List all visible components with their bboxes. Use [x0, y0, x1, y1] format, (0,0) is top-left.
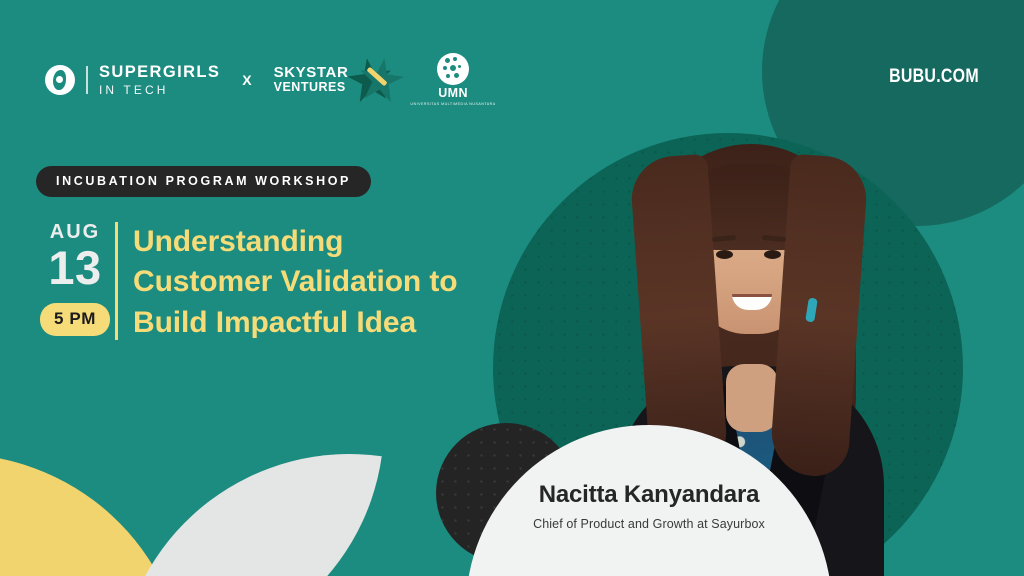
event-month: AUG — [40, 222, 110, 242]
dotted-circle-icon — [437, 53, 469, 85]
event-time-pill: 5 PM — [40, 303, 110, 336]
decorative-petal-yellow — [0, 424, 184, 576]
date-block: AUG 13 5 PM — [40, 222, 110, 336]
bubu-logo: BUBU.COM — [889, 66, 979, 88]
eye-left — [716, 250, 733, 259]
supergirls-line1: SUPERGIRLS — [99, 64, 220, 81]
event-poster: SUPERGIRLS IN TECH X SKYSTAR VENTURES UM… — [0, 0, 1024, 576]
skystar-wordmark: SKYSTAR VENTURES — [274, 65, 349, 95]
skystar-line1: SKYSTAR — [274, 65, 349, 81]
vertical-divider — [115, 222, 118, 340]
logo-divider — [86, 66, 88, 94]
umn-name: UMN — [410, 87, 495, 100]
neck — [726, 364, 778, 432]
event-day: 13 — [40, 244, 110, 293]
event-title-line2: Customer Validation to — [133, 262, 533, 302]
eye-right — [764, 250, 781, 259]
event-title-line1: Understanding — [133, 222, 533, 262]
program-badge: INCUBATION PROGRAM WORKSHOP — [36, 166, 371, 197]
speaker-info: Nacitta Kanyandara Chief of Product and … — [466, 482, 832, 531]
collab-cross-label: X — [242, 72, 251, 88]
speaker-role: Chief of Product and Growth at Sayurbox — [466, 517, 832, 531]
decorative-petal-gray — [120, 424, 382, 576]
supergirls-mark-icon — [45, 65, 75, 95]
supergirls-line2: IN TECH — [99, 84, 220, 96]
partner-logo-bar: SUPERGIRLS IN TECH X SKYSTAR VENTURES UM… — [45, 55, 496, 105]
event-title-line3: Build Impactful Idea — [133, 303, 533, 343]
skystar-line2: VENTURES — [274, 81, 349, 95]
umn-logo: UMN UNIVERSITAS MULTIMEDIA NUSANTARA — [410, 53, 495, 107]
umn-subtitle: UNIVERSITAS MULTIMEDIA NUSANTARA — [410, 102, 495, 107]
speaker-name: Nacitta Kanyandara — [466, 482, 832, 508]
event-title: Understanding Customer Validation to Bui… — [133, 222, 533, 343]
star-icon — [353, 58, 399, 102]
supergirls-wordmark: SUPERGIRLS IN TECH — [99, 64, 220, 96]
